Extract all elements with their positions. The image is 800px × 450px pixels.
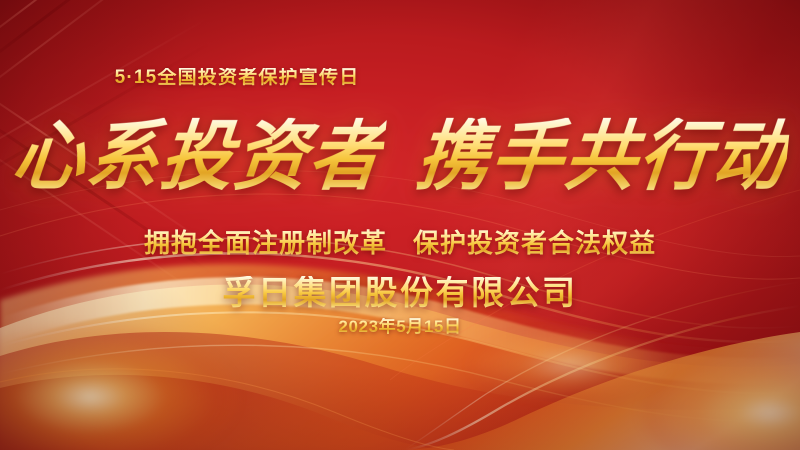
- slogan-part-1: 拥抱全面注册制改革: [144, 228, 387, 258]
- event-date: 2023年5月15日: [0, 318, 800, 335]
- company-name: 孚日集团股份有限公司: [0, 276, 800, 309]
- main-title-part-2: 携手共行动: [413, 118, 791, 194]
- poster-text-content: 5·15全国投资者保护宣传日 心系投资者携手共行动 拥抱全面注册制改革保护投资者…: [0, 0, 800, 450]
- main-title: 心系投资者携手共行动: [0, 118, 800, 194]
- campaign-header-line: 5·15全国投资者保护宣传日: [0, 68, 637, 87]
- slogan-part-2: 保护投资者合法权益: [413, 228, 656, 258]
- slogan-line: 拥抱全面注册制改革保护投资者合法权益: [0, 230, 800, 256]
- main-title-part-1: 心系投资者: [9, 118, 387, 194]
- investor-protection-poster: 5·15全国投资者保护宣传日 心系投资者携手共行动 拥抱全面注册制改革保护投资者…: [0, 0, 800, 450]
